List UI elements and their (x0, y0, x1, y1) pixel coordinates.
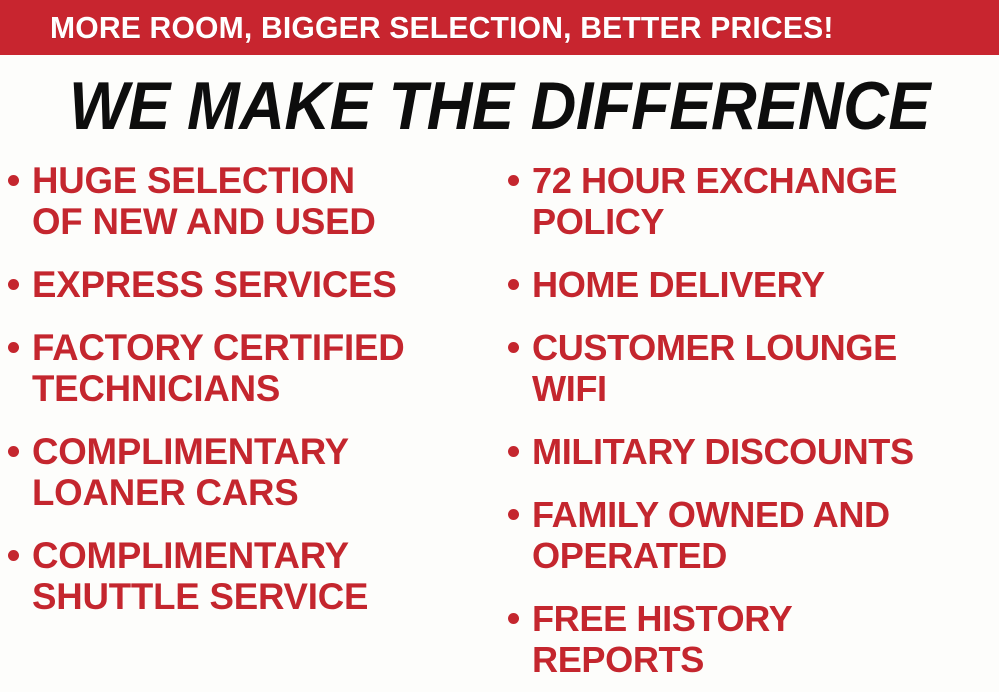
list-item: MILITARY DISCOUNTS (508, 431, 999, 472)
list-item: EXPRESS SERVICES (8, 264, 503, 305)
benefits-column-left: HUGE SELECTION OF NEW AND USED EXPRESS S… (8, 160, 503, 692)
list-item-label: FACTORY CERTIFIED TECHNICIANS (32, 327, 498, 409)
list-item: CUSTOMER LOUNGE WIFI (508, 327, 999, 409)
bullet-dot-icon (8, 550, 19, 561)
bullet-dot-icon (8, 342, 19, 353)
list-item: FAMILY OWNED AND OPERATED (508, 494, 999, 576)
bullet-dot-icon (508, 175, 519, 186)
benefits-column-right: 72 HOUR EXCHANGE POLICY HOME DELIVERY CU… (508, 160, 999, 692)
page-title: WE MAKE THE DIFFERENCE (35, 70, 964, 142)
bullet-dot-icon (508, 446, 519, 457)
list-item-label: COMPLIMENTARY LOANER CARS (32, 431, 498, 513)
promo-poster: MORE ROOM, BIGGER SELECTION, BETTER PRIC… (0, 0, 999, 692)
bullet-dot-icon (508, 509, 519, 520)
list-item: COMPLIMENTARY SHUTTLE SERVICE (8, 535, 503, 617)
list-item-label: COMPLIMENTARY SHUTTLE SERVICE (32, 535, 498, 617)
bullet-dot-icon (8, 446, 19, 457)
list-item: FREE HISTORY REPORTS (508, 598, 999, 680)
bullet-dot-icon (8, 175, 19, 186)
list-item-label: FAMILY OWNED AND OPERATED (532, 494, 994, 576)
list-item: 72 HOUR EXCHANGE POLICY (508, 160, 999, 242)
bullet-dot-icon (508, 279, 519, 290)
top-banner: MORE ROOM, BIGGER SELECTION, BETTER PRIC… (0, 0, 999, 55)
list-item-label: CUSTOMER LOUNGE WIFI (532, 327, 994, 409)
list-item: HOME DELIVERY (508, 264, 999, 305)
list-item: HUGE SELECTION OF NEW AND USED (8, 160, 503, 242)
list-item-label: 72 HOUR EXCHANGE POLICY (532, 160, 994, 242)
list-item-label: FREE HISTORY REPORTS (532, 598, 994, 680)
list-item-label: EXPRESS SERVICES (32, 264, 498, 305)
bullet-dot-icon (508, 613, 519, 624)
list-item-label: HOME DELIVERY (532, 264, 994, 305)
list-item: COMPLIMENTARY LOANER CARS (8, 431, 503, 513)
list-item-label: MILITARY DISCOUNTS (532, 431, 994, 472)
benefits-columns: HUGE SELECTION OF NEW AND USED EXPRESS S… (0, 160, 999, 692)
list-item-label: HUGE SELECTION OF NEW AND USED (32, 160, 498, 242)
bullet-dot-icon (8, 279, 19, 290)
list-item: FACTORY CERTIFIED TECHNICIANS (8, 327, 503, 409)
banner-headline-text: MORE ROOM, BIGGER SELECTION, BETTER PRIC… (50, 8, 933, 48)
bullet-dot-icon (508, 342, 519, 353)
